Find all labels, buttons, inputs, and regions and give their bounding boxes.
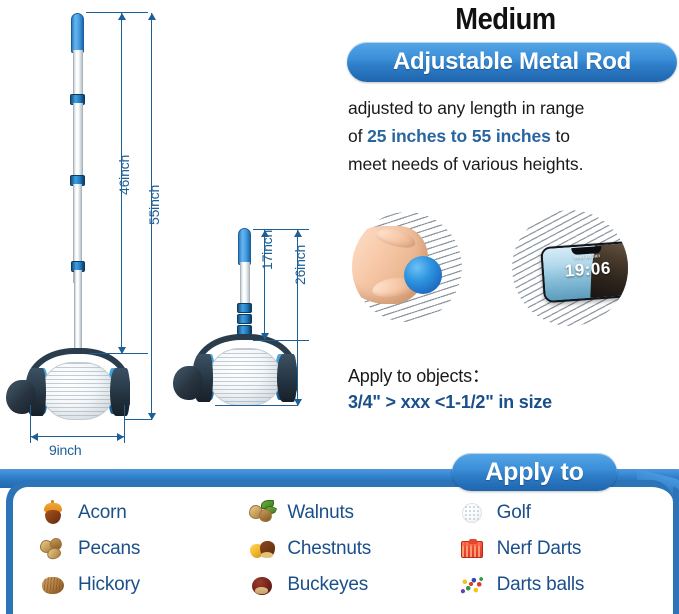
description-line-2: of 25 inches to 55 inches to (348, 122, 676, 150)
description-line-3: meet needs of various heights. (348, 150, 676, 178)
dim-9-line (31, 436, 124, 437)
dim-46-bottom-tick (90, 353, 148, 354)
list-item-label: Darts balls (497, 574, 585, 596)
list-item[interactable]: Nerf Darts (458, 535, 667, 562)
dim-9-baseline-right (124, 419, 152, 420)
adjustable-metal-rod-badge: Adjustable Metal Rod (347, 42, 677, 82)
apply-to-label: Apply to (485, 458, 583, 487)
apply-to-column-2: Walnuts Chestnuts Buckeyes (248, 499, 457, 614)
dim-label-9inch: 9inch (49, 442, 81, 458)
list-item-label: Acorn (78, 502, 127, 524)
apply-to-badge: Apply to (452, 453, 617, 491)
list-item-label: Chestnuts (287, 538, 371, 560)
list-item-label: Hickory (78, 574, 140, 596)
wire-roller-basket (42, 362, 114, 420)
apply-to-panel: Acorn Pecans Hickory (6, 480, 673, 614)
apply-to-column-1: Acorn Pecans Hickory (39, 499, 248, 614)
blue-ball (404, 256, 442, 294)
chestnuts-icon (248, 536, 276, 561)
nerf-darts-icon (458, 536, 486, 561)
acorn-icon (39, 500, 67, 525)
list-item[interactable]: Golf (458, 499, 667, 526)
product-dimension-diagram: 46inch 55inch 9inch (0, 0, 340, 460)
list-item[interactable]: Hickory (39, 571, 248, 598)
apply-to-objects-sizes: 3/4" > xxx <1-1/2" in size (348, 389, 678, 415)
apply-to-objects-label: Apply to objects： (348, 363, 678, 389)
dim-26-arrow-top (294, 230, 302, 237)
pole-segment-4 (74, 270, 82, 354)
list-item-label: Golf (497, 502, 531, 524)
dim-26-baseline (215, 405, 298, 406)
handle-grip (71, 13, 84, 53)
list-item[interactable]: Chestnuts (248, 535, 457, 562)
smartphone: Wed 18 Jan 19:06 (540, 241, 628, 303)
golf-ball-icon (458, 500, 486, 525)
pole-segment-1 (73, 50, 83, 98)
pecans-icon (39, 536, 67, 561)
dim-17-bottom-tick (253, 340, 309, 341)
wire-roller-basket-collapsed (209, 348, 281, 406)
list-item[interactable]: Walnuts (248, 499, 457, 526)
walnuts-icon (248, 500, 276, 525)
list-item[interactable]: Acorn (39, 499, 248, 526)
side-plate-right-collapsed (277, 354, 297, 402)
pole-collar-c2 (237, 314, 252, 324)
list-item[interactable]: Darts balls (458, 571, 667, 598)
dim-9-arrow-left (31, 433, 38, 441)
apply-to-grid: Acorn Pecans Hickory (13, 487, 673, 614)
dim-label-55inch: 55inch (146, 185, 162, 225)
list-item[interactable]: Pecans (39, 535, 248, 562)
range-highlight: 25 inches to 55 inches (367, 126, 551, 146)
dim-55-arrow-top (148, 13, 156, 20)
pole-collapsed (240, 262, 250, 308)
release-lever-nozzle (6, 380, 36, 414)
darts-balls-icon (458, 572, 486, 597)
dim-46-top-tick (86, 12, 148, 13)
apply-to-column-3: Golf Nerf Darts Darts balls (458, 499, 667, 614)
description-text: adjusted to any length in range of 25 in… (348, 94, 676, 178)
dim-46-arrow-top (118, 13, 126, 20)
list-item-label: Nerf Darts (497, 538, 582, 560)
product-info-panel: Medium Adjustable Metal Rod adjusted to … (340, 0, 679, 450)
buckeyes-icon (248, 572, 276, 597)
pole-segment-2 (73, 103, 83, 179)
dim-9-tick-right (124, 405, 125, 443)
dim-label-26inch: 26inch (292, 245, 308, 285)
pole-collar-c1 (237, 303, 252, 313)
dim-label-46inch: 46inch (116, 155, 132, 195)
phone-screen: Wed 18 Jan 19:06 (542, 243, 628, 301)
list-item[interactable]: Buckeyes (248, 571, 457, 598)
hickory-icon (39, 572, 67, 597)
apply-to-objects-block: Apply to objects： 3/4" > xxx <1-1/2" in … (348, 363, 678, 415)
list-item-label: Pecans (78, 538, 140, 560)
list-item-label: Walnuts (287, 502, 354, 524)
description-line-2-post: to (551, 126, 570, 146)
page-title: Medium (360, 1, 651, 37)
list-item-label: Buckeyes (287, 574, 368, 596)
side-plate-right (110, 368, 130, 416)
release-lever-nozzle-collapsed (173, 366, 203, 400)
description-line-1: adjusted to any length in range (348, 94, 676, 122)
phone-in-roller-photo: Wed 18 Jan 19:06 (512, 210, 628, 326)
description-line-2-pre: of (348, 126, 367, 146)
hand-holding-blue-ball-photo (352, 212, 462, 322)
dim-label-17inch: 17inch (259, 230, 275, 270)
dim-9-arrow-right (117, 433, 124, 441)
adjustable-metal-rod-label: Adjustable Metal Rod (393, 48, 631, 76)
handle-grip-collapsed (238, 228, 251, 265)
infographic-root: 46inch 55inch 9inch (0, 0, 679, 614)
dim-17-arrow-bottom (261, 333, 269, 340)
